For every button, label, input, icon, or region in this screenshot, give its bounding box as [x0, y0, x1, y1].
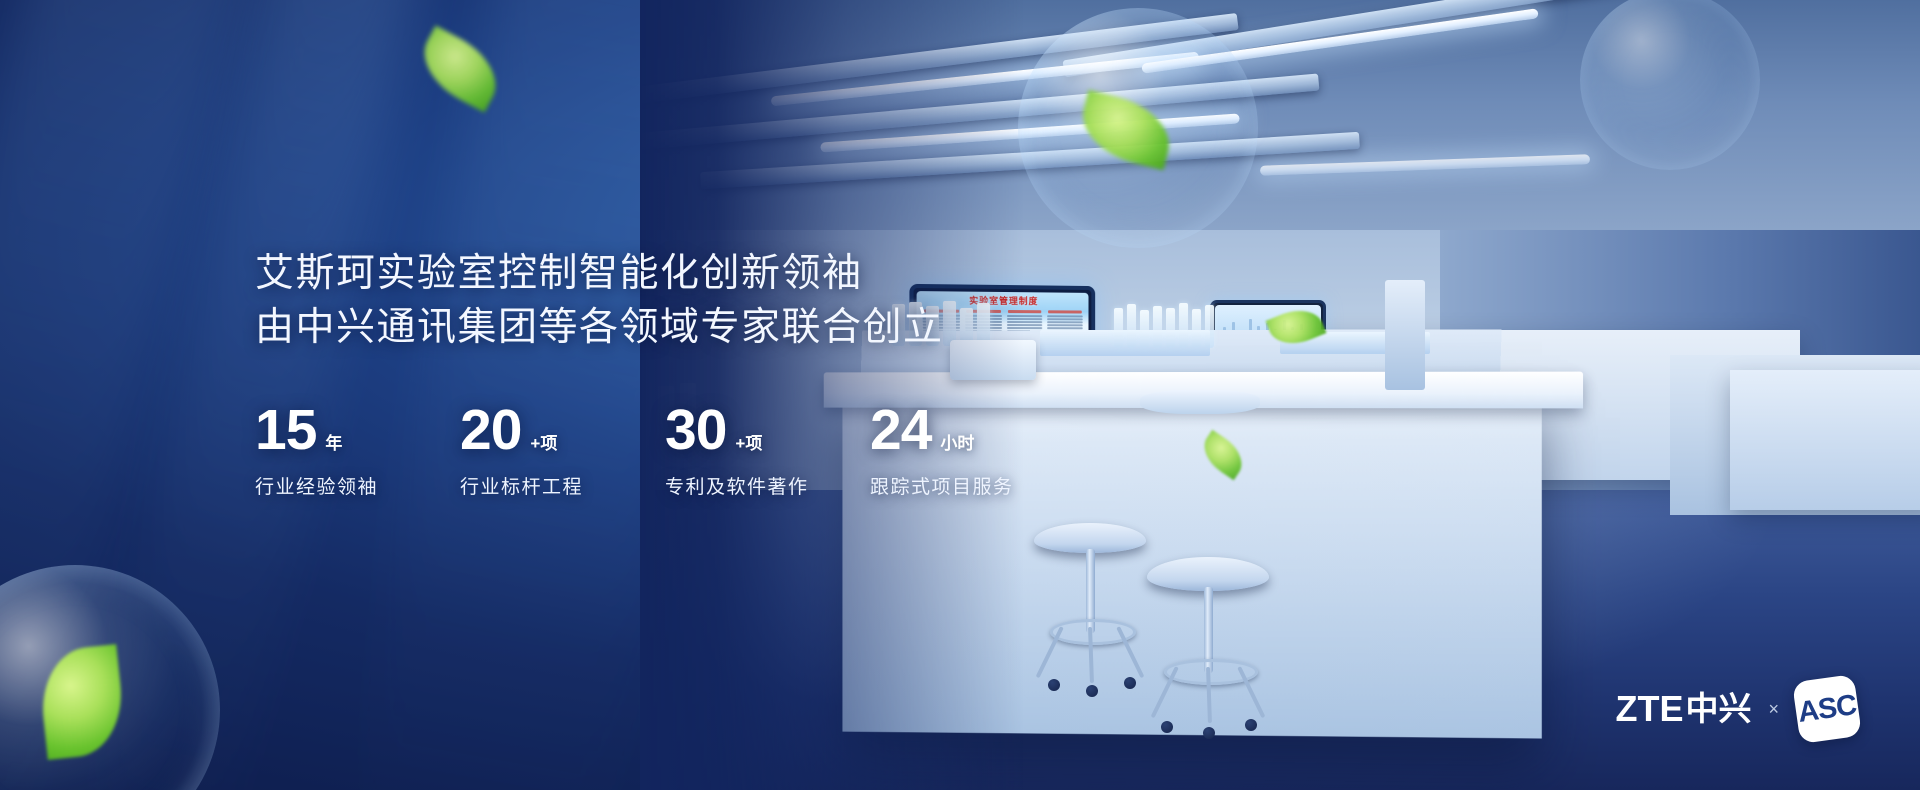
- stat-number: 15: [255, 401, 316, 459]
- stool-caster: [1124, 677, 1136, 689]
- stat-item-experience: 15 年 行业经验领袖: [255, 401, 460, 499]
- stool-caster: [1161, 721, 1173, 733]
- stat-value-group: 20 +项: [460, 401, 665, 459]
- stat-item-benchmark-projects: 20 +项 行业标杆工程: [460, 401, 665, 499]
- stat-unit: 年: [325, 429, 342, 454]
- lab-column-instrument: [1385, 280, 1425, 390]
- stat-value-group: 15 年: [255, 401, 460, 459]
- stool-caster: [1048, 679, 1060, 691]
- stat-value-group: 30 +项: [665, 401, 870, 459]
- right-cabinet: [1730, 370, 1920, 510]
- stat-value-group: 24 小时: [870, 401, 1075, 459]
- stat-label: 行业标杆工程: [460, 472, 665, 499]
- stat-number: 30: [665, 401, 726, 459]
- logo-lockup: ZTE 中兴 × ASC: [1615, 678, 1858, 740]
- stool-seat: [1147, 557, 1269, 591]
- lab-basin: [1140, 390, 1260, 414]
- stat-item-service-hours: 24 小时 跟踪式项目服务: [870, 401, 1075, 499]
- lab-stool: [1034, 523, 1146, 683]
- stool-caster: [1245, 719, 1257, 731]
- stat-label: 行业经验领袖: [255, 472, 460, 499]
- ceiling-light-tube: [1260, 154, 1590, 176]
- stat-label: 专利及软件著作: [665, 472, 870, 499]
- page-title: 艾斯珂实验室控制智能化创新领袖 由中兴通讯集团等各领域专家联合创立: [255, 247, 1075, 355]
- asc-logo-text: ASC: [1797, 691, 1858, 728]
- stat-label: 跟踪式项目服务: [870, 472, 1075, 499]
- stat-unit: 小时: [940, 429, 974, 454]
- asc-logo: ASC: [1792, 674, 1862, 744]
- zte-logo: ZTE 中兴: [1615, 691, 1751, 727]
- logo-separator-icon: ×: [1768, 700, 1779, 718]
- zte-logo-latin: ZTE: [1615, 691, 1683, 727]
- hero-banner: 实验室管理制度: [0, 0, 1920, 790]
- zte-logo-chinese: 中兴: [1685, 691, 1751, 727]
- stool-caster: [1203, 727, 1215, 739]
- stat-unit: +项: [530, 429, 557, 454]
- lab-stool: [1147, 557, 1269, 727]
- banner-content: 艾斯珂实验室控制智能化创新领袖 由中兴通讯集团等各领域专家联合创立 15 年 行…: [255, 0, 1075, 499]
- stat-number: 24: [870, 401, 931, 459]
- stool-caster: [1086, 685, 1098, 697]
- stats-row: 15 年 行业经验领袖 20 +项 行业标杆工程 30 +项 专利及软件著作: [255, 401, 1075, 499]
- stat-unit: +项: [735, 429, 762, 454]
- headline-line-1: 艾斯珂实验室控制智能化创新领袖: [255, 247, 1075, 301]
- stat-number: 20: [460, 401, 521, 459]
- stat-item-patents: 30 +项 专利及软件著作: [665, 401, 870, 499]
- headline-line-2: 由中兴通讯集团等各领域专家联合创立: [255, 301, 1075, 355]
